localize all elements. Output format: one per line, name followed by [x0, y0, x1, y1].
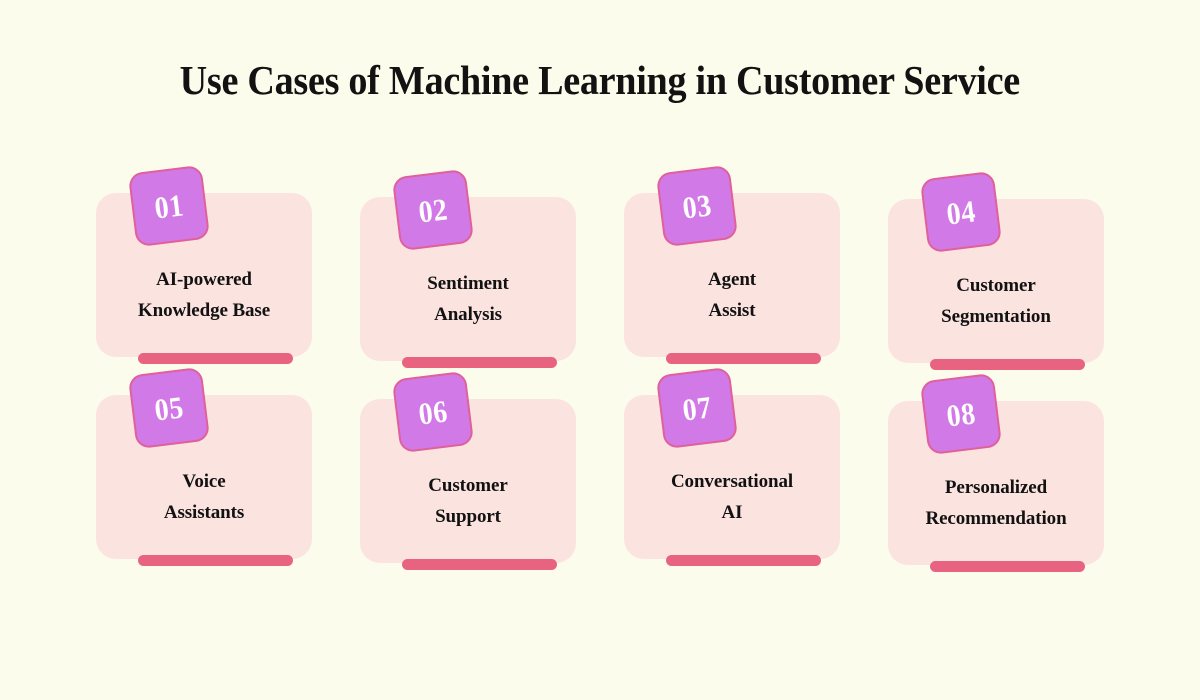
card-number-badge: 03	[656, 165, 738, 247]
card-label: Customer Support	[370, 471, 566, 533]
card-number-badge: 01	[128, 165, 210, 247]
use-case-card[interactable]: 02 Sentiment Analysis	[360, 197, 576, 361]
card-number-badge: 07	[656, 367, 738, 449]
card-label-line-1: Sentiment	[370, 269, 566, 300]
card-label-line-1: Customer	[370, 471, 566, 502]
infographic-page: Use Cases of Machine Learning in Custome…	[0, 0, 1200, 700]
card-number: 06	[417, 395, 449, 429]
card-label: Customer Segmentation	[898, 271, 1094, 333]
card-number: 08	[945, 397, 977, 431]
card-label-line-2: Support	[370, 502, 566, 533]
use-case-card[interactable]: 04 Customer Segmentation	[888, 199, 1104, 363]
card-label-line-1: Voice	[106, 467, 302, 498]
card-accent-bar	[930, 561, 1085, 572]
card-accent-bar	[666, 555, 821, 566]
card-label: Conversational AI	[634, 467, 830, 529]
card-number: 04	[945, 195, 977, 229]
card-number-badge: 08	[920, 373, 1002, 455]
title-container: Use Cases of Machine Learning in Custome…	[0, 58, 1200, 103]
card-number: 02	[417, 193, 449, 227]
card-number: 05	[153, 391, 185, 425]
card-accent-bar	[402, 559, 557, 570]
card-label-line-2: Assist	[634, 296, 830, 327]
card-label-line-2: Assistants	[106, 498, 302, 529]
card-label-line-2: Segmentation	[898, 302, 1094, 333]
card-accent-bar	[666, 353, 821, 364]
card-label: Sentiment Analysis	[370, 269, 566, 331]
card-number-badge: 05	[128, 367, 210, 449]
card-label: Agent Assist	[634, 265, 830, 327]
card-accent-bar	[930, 359, 1085, 370]
card-number-badge: 02	[392, 169, 474, 251]
page-title: Use Cases of Machine Learning in Custome…	[180, 58, 1020, 103]
card-number: 07	[681, 391, 713, 425]
card-label-line-1: Personalized	[898, 473, 1094, 504]
card-label-line-1: Customer	[898, 271, 1094, 302]
card-label-line-2: AI	[634, 498, 830, 529]
use-case-card[interactable]: 05 Voice Assistants	[96, 395, 312, 559]
card-number-badge: 06	[392, 371, 474, 453]
card-label: AI-powered Knowledge Base	[106, 265, 302, 327]
card-label-line-2: Analysis	[370, 300, 566, 331]
use-case-card[interactable]: 07 Conversational AI	[624, 395, 840, 559]
card-number-badge: 04	[920, 171, 1002, 253]
card-label-line-1: Agent	[634, 265, 830, 296]
card-accent-bar	[138, 353, 293, 364]
card-label: Voice Assistants	[106, 467, 302, 529]
card-label-line-1: Conversational	[634, 467, 830, 498]
use-case-card[interactable]: 06 Customer Support	[360, 399, 576, 563]
card-label-line-1: AI-powered	[106, 265, 302, 296]
card-number: 03	[681, 189, 713, 223]
use-case-card[interactable]: 08 Personalized Recommendation	[888, 401, 1104, 565]
card-label-line-2: Recommendation	[898, 504, 1094, 535]
use-case-card-grid: 01 AI-powered Knowledge Base 02 Sentimen…	[96, 193, 1104, 565]
card-number: 01	[153, 189, 185, 223]
card-accent-bar	[138, 555, 293, 566]
card-label-line-2: Knowledge Base	[106, 296, 302, 327]
card-label: Personalized Recommendation	[898, 473, 1094, 535]
card-accent-bar	[402, 357, 557, 368]
use-case-card[interactable]: 03 Agent Assist	[624, 193, 840, 357]
use-case-card[interactable]: 01 AI-powered Knowledge Base	[96, 193, 312, 357]
